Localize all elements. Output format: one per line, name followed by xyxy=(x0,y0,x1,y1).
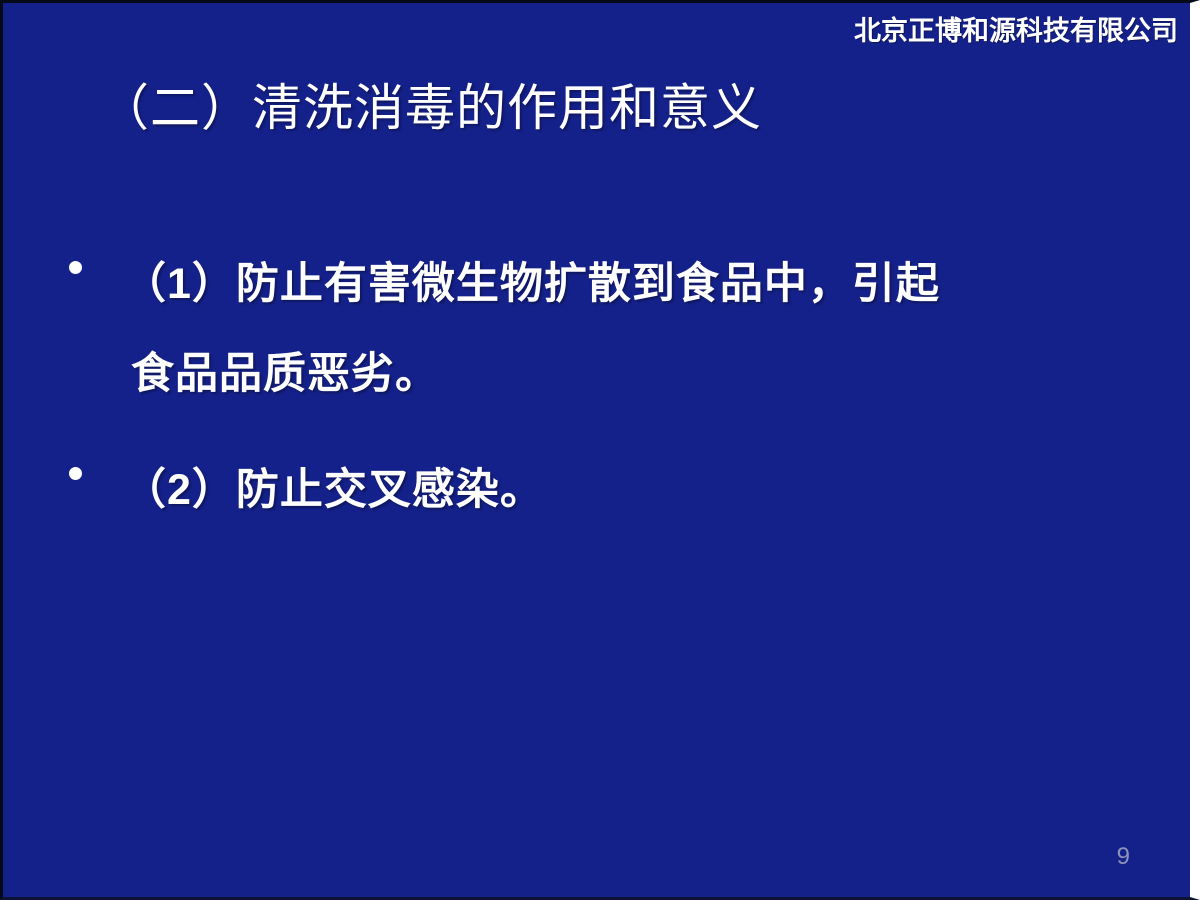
company-name-label: 北京正博和源科技有限公司 xyxy=(854,17,1178,47)
slide-canvas: 北京正博和源科技有限公司 （二）清洗消毒的作用和意义 （1）防止有害微生物扩散到… xyxy=(0,0,1200,900)
slide-title: （二）清洗消毒的作用和意义 xyxy=(99,79,1130,138)
list-item-text: （2）防止交叉感染。 xyxy=(123,445,1146,535)
page-number: 9 xyxy=(1117,845,1130,869)
bullet-dot-icon xyxy=(69,467,82,480)
slide-body: （1）防止有害微生物扩散到食品中，引起 食品品质恶劣。 （2）防止交叉感染。 xyxy=(59,239,1146,535)
list-item: （1）防止有害微生物扩散到食品中，引起 食品品质恶劣。 xyxy=(59,239,1146,419)
list-item-line: 食品品质恶劣。 xyxy=(123,329,1146,419)
list-item-line: （1）防止有害微生物扩散到食品中，引起 xyxy=(123,239,1146,329)
list-item-text: （1）防止有害微生物扩散到食品中，引起 食品品质恶劣。 xyxy=(123,239,1146,419)
list-item-line: （2）防止交叉感染。 xyxy=(123,445,1146,535)
list-item: （2）防止交叉感染。 xyxy=(59,445,1146,535)
slide-title-text: （二）清洗消毒的作用和意义 xyxy=(99,79,1130,138)
slide-header: 北京正博和源科技有限公司 xyxy=(854,17,1178,47)
bullet-dot-icon xyxy=(69,261,82,274)
